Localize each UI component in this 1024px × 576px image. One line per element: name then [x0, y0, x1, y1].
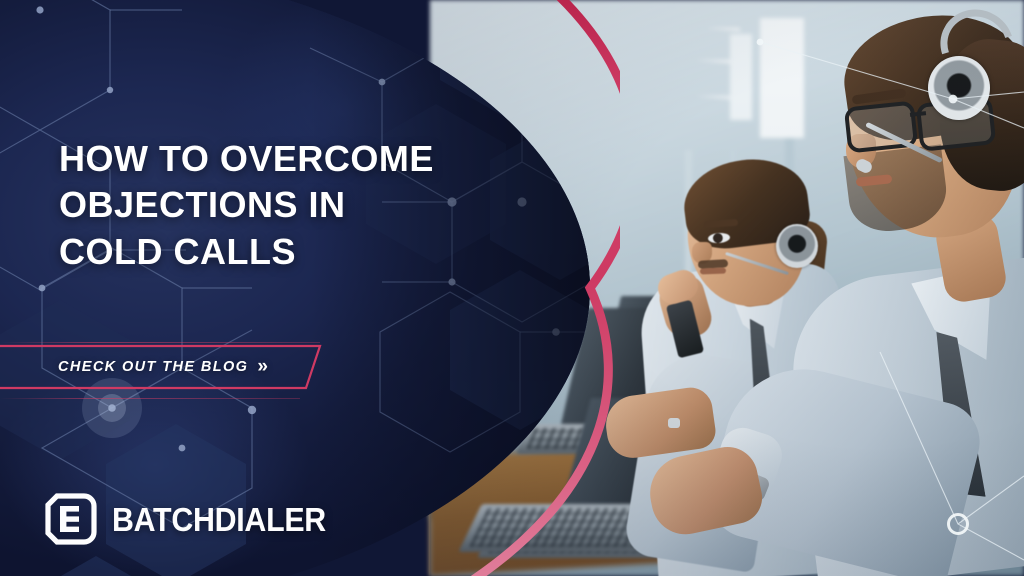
- headline-line-3: COLD CALLS: [59, 229, 489, 275]
- headline-line-1: HOW TO OVERCOME: [59, 136, 489, 182]
- agent-with-glasses: [790, 0, 1024, 576]
- headline-line-2: OBJECTIONS IN: [59, 182, 489, 228]
- cta-label: CHECK OUT THE BLOG: [58, 359, 248, 375]
- page-title: HOW TO OVERCOME OBJECTIONS IN COLD CALLS: [59, 136, 489, 275]
- blog-banner: HOW TO OVERCOME OBJECTIONS IN COLD CALLS…: [0, 0, 1024, 576]
- cta-label-wrap: CHECK OUT THE BLOG »: [58, 344, 269, 390]
- agent1-ring: [668, 418, 680, 428]
- batchdialer-logo[interactable]: BATCHDIALER: [44, 492, 345, 546]
- chevron-double-right-icon: »: [257, 357, 269, 376]
- check-out-the-blog-button[interactable]: CHECK OUT THE BLOG »: [0, 344, 322, 390]
- accent-line-bottom: [0, 398, 300, 399]
- agent2-headset-earcup: [928, 56, 990, 120]
- agent1-mouth: [700, 268, 726, 275]
- batchdialer-b-mark-icon: [44, 492, 98, 546]
- batchdialer-wordmark: BATCHDIALER: [112, 503, 326, 536]
- accent-line-top: [0, 342, 320, 343]
